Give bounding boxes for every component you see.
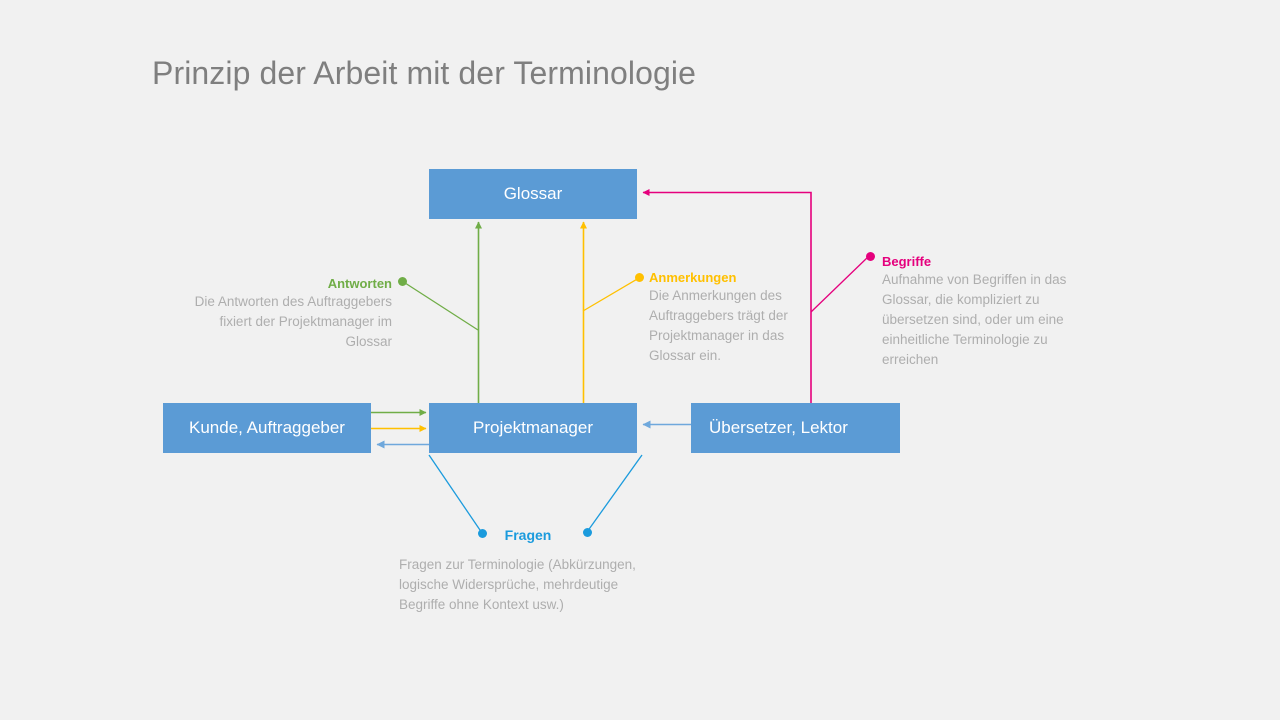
annotation-anmerkungen-heading: Anmerkungen (649, 270, 809, 286)
annotation-antworten-dot (398, 277, 407, 286)
leader-line-fragen-left (429, 455, 482, 533)
node-kunde-label: Kunde, Auftraggeber (163, 418, 371, 438)
annotation-fragen-dot-left (478, 529, 487, 538)
annotation-begriffe-dot (866, 252, 875, 261)
leader-line-anmerkungen (583, 278, 639, 311)
node-projektmanager-label: Projektmanager (473, 418, 593, 438)
slide-canvas: Prinzip der Arbeit mit der Terminologie (0, 0, 1280, 720)
node-projektmanager[interactable]: Projektmanager (429, 403, 637, 453)
annotation-begriffe: Begriffe Aufnahme von Begriffen in das G… (882, 254, 1087, 370)
leader-line-fragen-right (587, 455, 642, 532)
annotation-antworten: Antworten Die Antworten des Auftraggeber… (190, 276, 392, 352)
node-uebersetzer[interactable]: Übersetzer, Lektor (691, 403, 900, 453)
annotation-anmerkungen-body: Die Anmerkungen des Auftraggebers trägt … (649, 286, 809, 366)
annotation-fragen-dot-right (583, 528, 592, 537)
annotation-antworten-heading: Antworten (190, 276, 392, 292)
annotation-begriffe-heading: Begriffe (882, 254, 1087, 270)
leader-line-begriffe (811, 256, 869, 312)
annotation-fragen: Fragen Fragen zur Terminologie (Abkürzun… (399, 527, 657, 615)
page-title: Prinzip der Arbeit mit der Terminologie (152, 55, 696, 92)
node-glossar[interactable]: Glossar (429, 169, 637, 219)
annotation-fragen-body: Fragen zur Terminologie (Abkürzungen, lo… (399, 555, 657, 615)
node-kunde[interactable]: Kunde, Auftraggeber (163, 403, 371, 453)
node-glossar-label: Glossar (504, 184, 563, 204)
annotation-anmerkungen-dot (635, 273, 644, 282)
annotation-antworten-body: Die Antworten des Auftraggebers fixiert … (190, 292, 392, 352)
annotation-begriffe-body: Aufnahme von Begriffen in das Glossar, d… (882, 270, 1087, 370)
leader-line-antworten (402, 281, 478, 330)
node-uebersetzer-label: Übersetzer, Lektor (709, 418, 848, 438)
annotation-anmerkungen: Anmerkungen Die Anmerkungen des Auftragg… (649, 270, 809, 366)
annotation-fragen-heading: Fragen (399, 527, 657, 543)
